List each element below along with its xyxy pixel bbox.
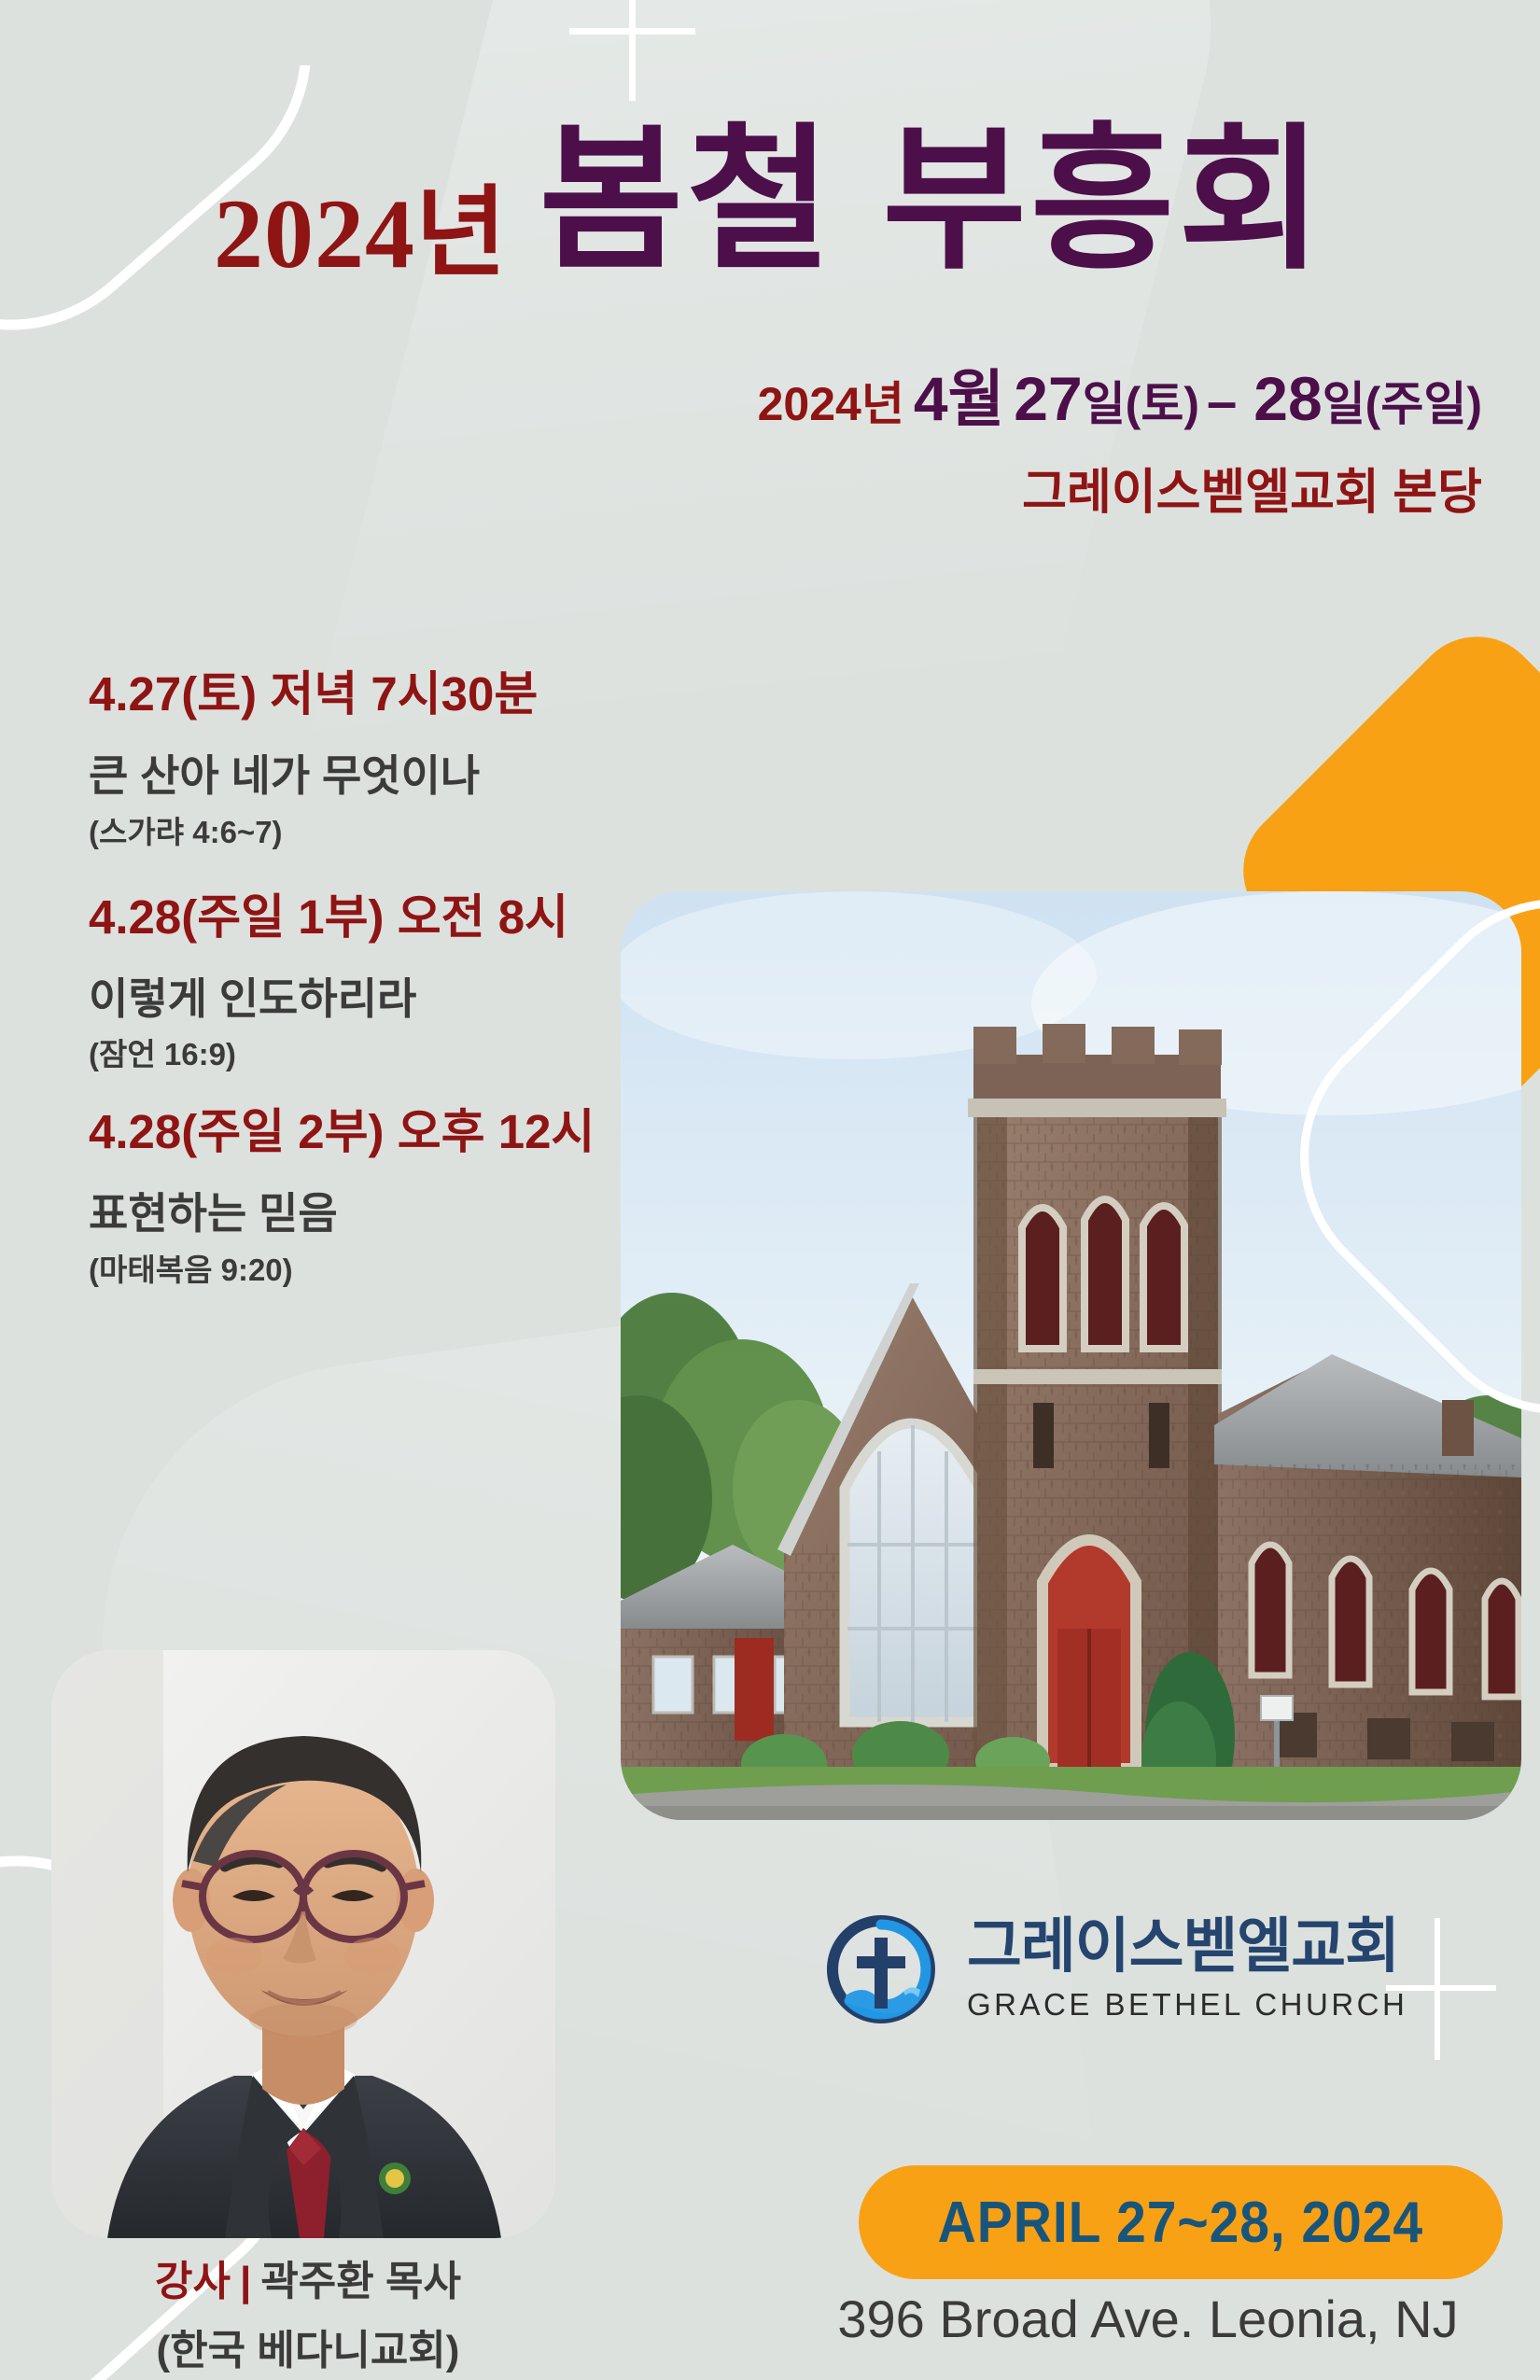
schedule-session: 4.28(주일 1부) 오전 8시 이렇게 인도하리라 (잠언 16:9) bbox=[89, 891, 742, 1075]
cross-in-circle-icon bbox=[821, 1910, 941, 2029]
session-scripture-reference: (잠언 16:9) bbox=[89, 1029, 742, 1074]
schedule-session: 4.27(토) 저녁 7시30분 큰 산아 네가 무엇이나 (스가랴 4:6~7… bbox=[89, 668, 742, 852]
church-logo-icon bbox=[821, 1910, 941, 2029]
schedule-list: 4.27(토) 저녁 7시30분 큰 산아 네가 무엇이나 (스가랴 4:6~7… bbox=[89, 668, 742, 1329]
date-day-one: 27 bbox=[1014, 364, 1082, 433]
schedule-session: 4.28(주일 2부) 오후 12시 표현하는 믿음 (마태복음 9:20) bbox=[89, 1106, 742, 1290]
speaker-name: 곽주환 목사 bbox=[260, 2259, 461, 2304]
session-when: 4.27(토) 저녁 7시30분 bbox=[89, 668, 742, 721]
date-badge: APRIL 27~28, 2024 bbox=[859, 2165, 1503, 2279]
date-range-dash: – bbox=[1207, 371, 1237, 432]
session-scripture-reference: (마태복음 9:20) bbox=[89, 1245, 742, 1290]
church-logo-text: 그레이스벧엘교회 GRACE BETHEL CHURCH bbox=[967, 1916, 1407, 2023]
event-date-line: 2024년4월27일(토)–28일(주일) bbox=[758, 366, 1482, 432]
date-day-two: 28 bbox=[1253, 364, 1322, 433]
church-logo: 그레이스벧엘교회 GRACE BETHEL CHURCH bbox=[821, 1910, 1407, 2029]
session-when: 4.28(주일 1부) 오전 8시 bbox=[89, 891, 742, 944]
church-name-korean: 그레이스벧엘교회 bbox=[967, 1916, 1407, 1976]
date-badge-text: APRIL 27~28, 2024 bbox=[938, 2190, 1423, 2256]
poster-root: 2024년봄철 부흥회 2024년4월27일(토)–28일(주일) 그레이스벧엘… bbox=[0, 0, 1540, 2380]
speaker-separator: | bbox=[240, 2259, 251, 2304]
cross-vertical-bar bbox=[1435, 1918, 1440, 2060]
church-name-english: GRACE BETHEL CHURCH bbox=[967, 1987, 1407, 2023]
poster-title: 2024년봄철 부흥회 bbox=[0, 73, 1540, 300]
session-when: 4.28(주일 2부) 오후 12시 bbox=[89, 1106, 742, 1158]
speaker-name-line: 강사|곽주환 목사 bbox=[0, 2247, 616, 2307]
date-month: 4월 bbox=[914, 364, 1004, 433]
speaker-portrait-photo bbox=[51, 1650, 555, 2238]
cross-horizontal-bar bbox=[569, 28, 695, 35]
speaker-label: 강사 bbox=[155, 2259, 231, 2304]
event-venue: 그레이스벧엘교회 본당 bbox=[758, 453, 1482, 523]
title-year: 2024년 bbox=[214, 179, 508, 288]
speaker-portrait-illustration bbox=[51, 1650, 555, 2238]
church-photo-illustration bbox=[621, 891, 1521, 1820]
session-title: 표현하는 믿음 bbox=[89, 1190, 742, 1238]
white-curve-top-left-mask bbox=[0, 0, 327, 65]
church-building-photo bbox=[621, 891, 1521, 1820]
session-title: 큰 산아 네가 무엇이나 bbox=[89, 752, 742, 800]
session-scripture-reference: (스가랴 4:6~7) bbox=[89, 807, 742, 852]
date-year: 2024년 bbox=[758, 378, 904, 430]
session-title: 이렇게 인도하리라 bbox=[89, 975, 742, 1023]
speaker-affiliation: (한국 베다니교회) bbox=[0, 2317, 616, 2376]
title-main: 봄철 부흥회 bbox=[539, 112, 1326, 287]
date-day-one-suffix: 일(토) bbox=[1083, 378, 1199, 430]
date-day-two-suffix: 일(주일) bbox=[1323, 378, 1482, 430]
church-address: 396 Broad Ave. Leonia, NJ bbox=[775, 2289, 1521, 2349]
subtitle-block: 2024년4월27일(토)–28일(주일) 그레이스벧엘교회 본당 bbox=[758, 366, 1482, 523]
speaker-caption: 강사|곽주환 목사 (한국 베다니교회) bbox=[0, 2247, 616, 2376]
